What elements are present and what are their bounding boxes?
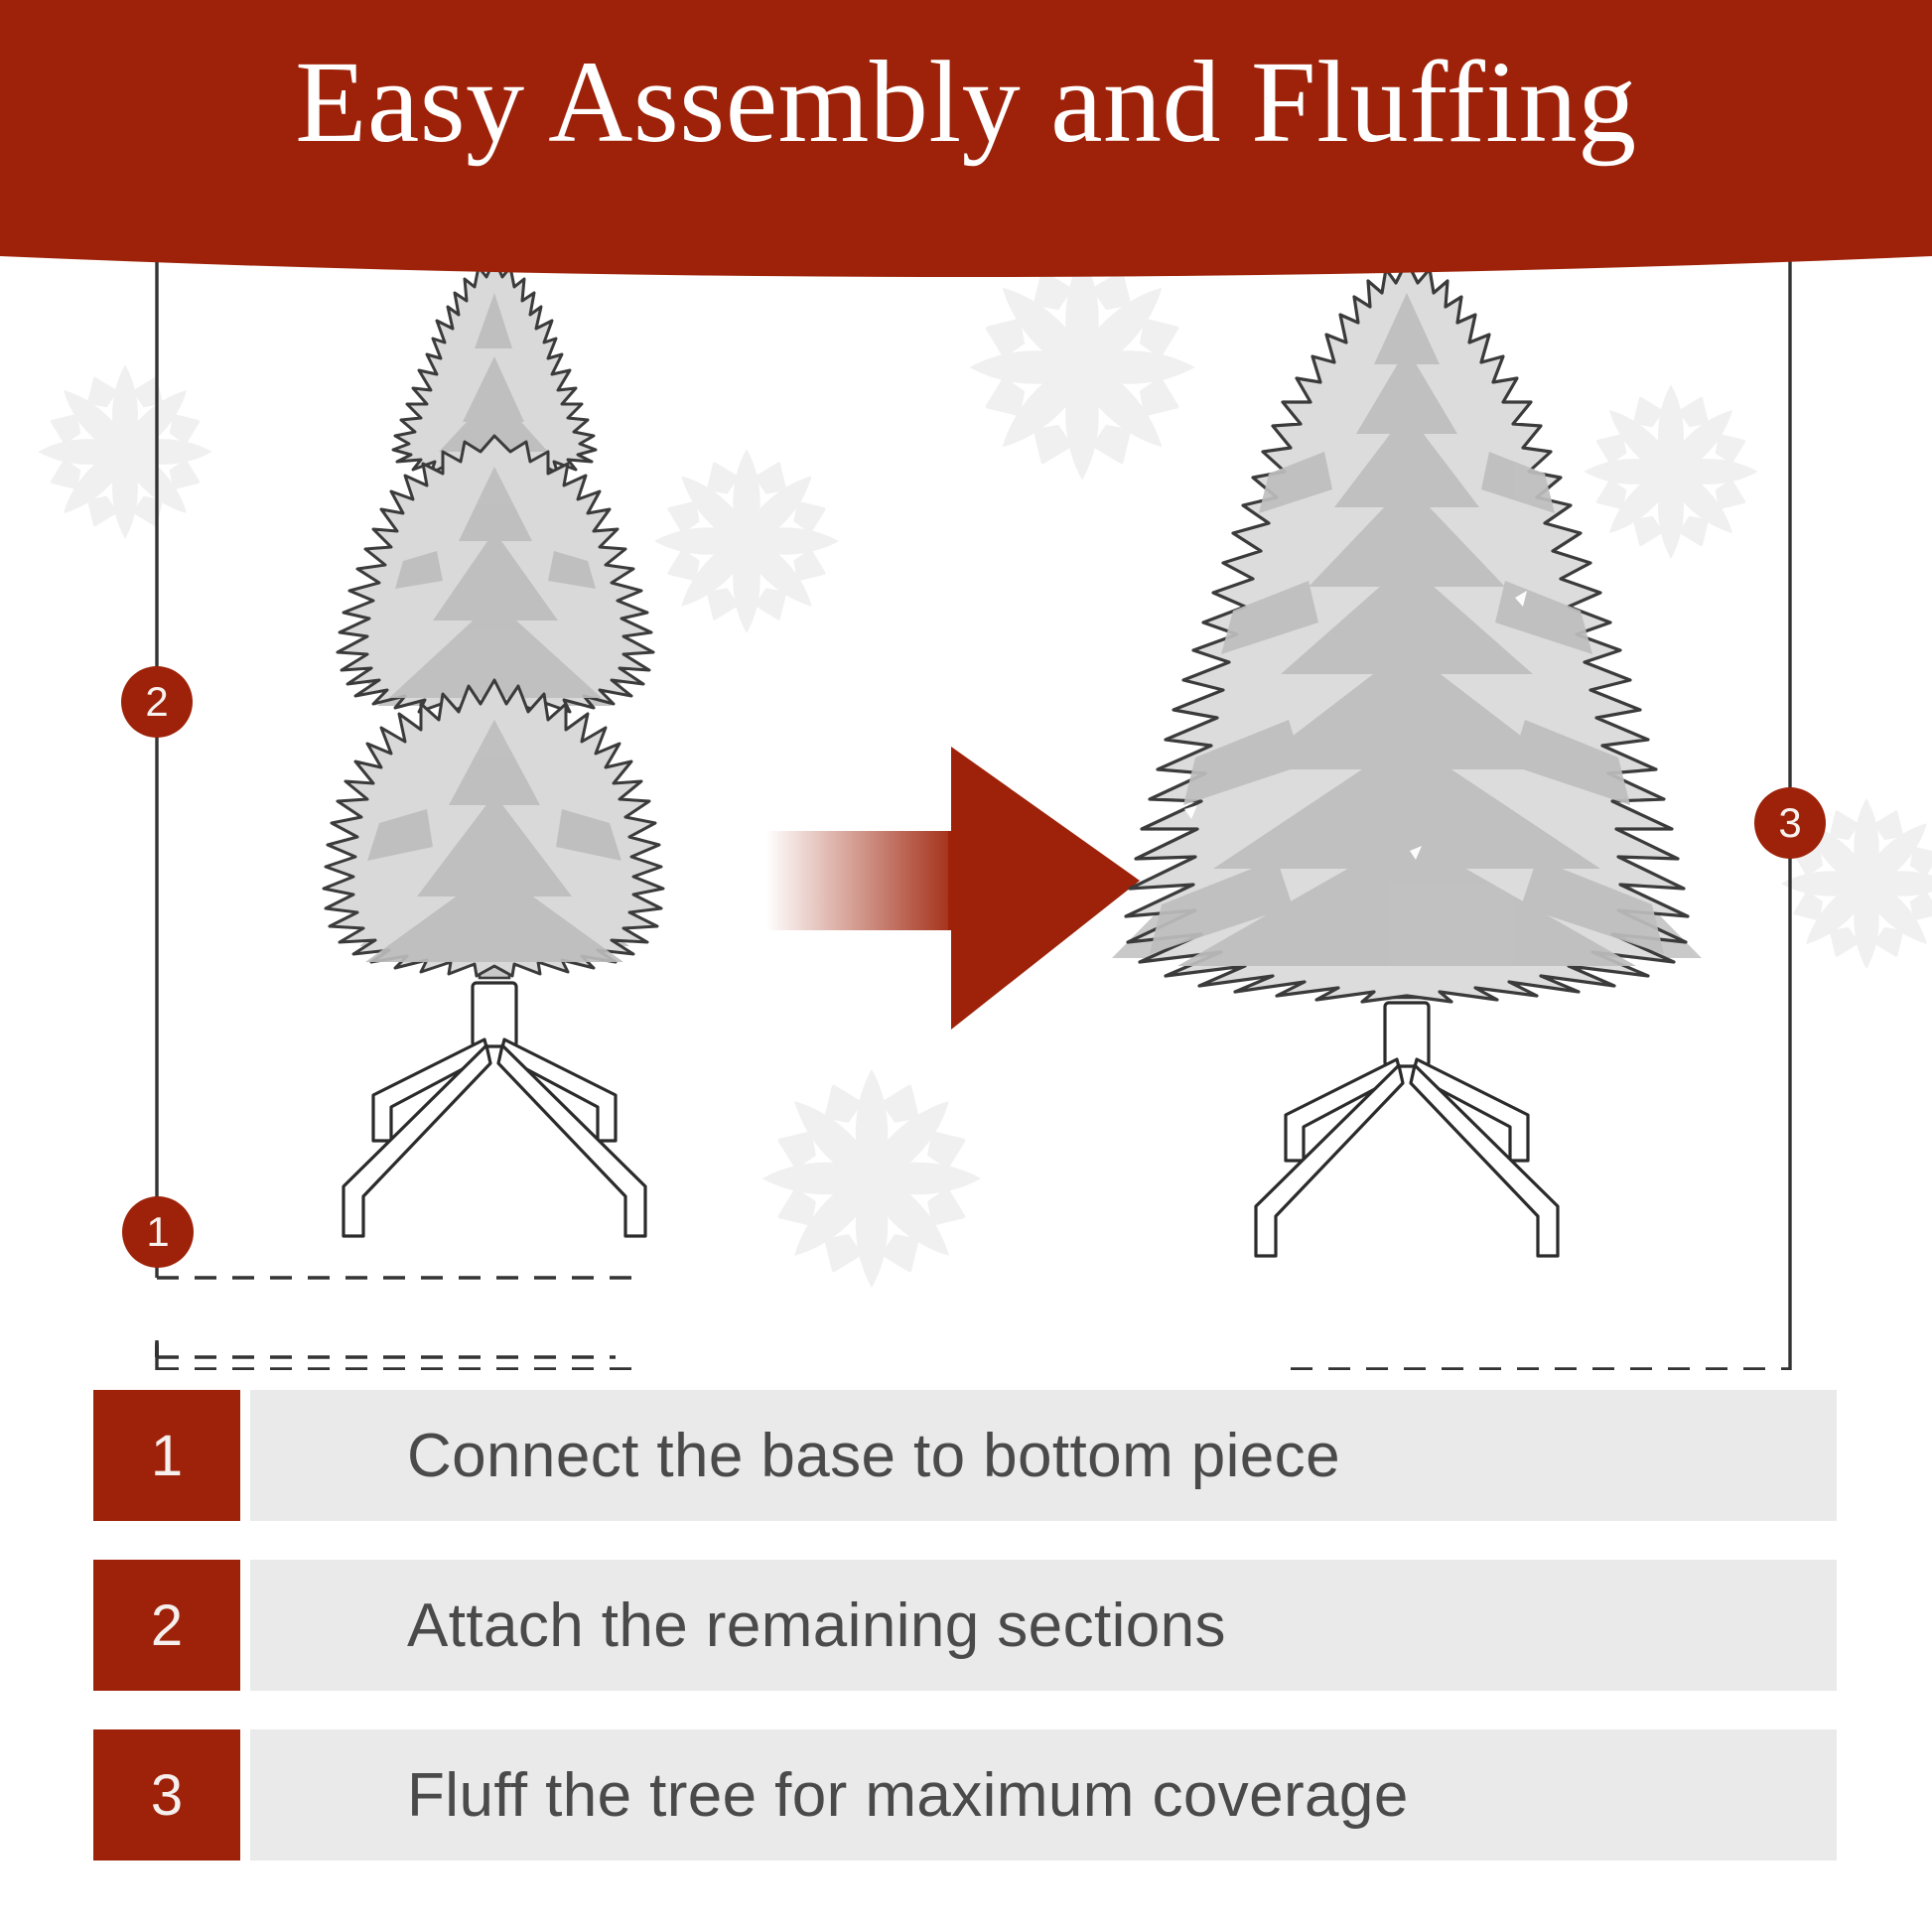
dimension-badge-2: 2 xyxy=(121,666,193,738)
step-row-3: 3 Fluff the tree for maximum coverage xyxy=(0,1729,1932,1861)
assembly-illustration xyxy=(0,253,1932,1370)
snowflake-icon xyxy=(762,1069,982,1289)
step-number-badge-3: 3 xyxy=(93,1729,240,1861)
dimension-badge-1-label: 1 xyxy=(146,1208,169,1256)
right-arrow-icon xyxy=(766,747,1140,1030)
step-text-bar-2: Attach the remaining sections xyxy=(250,1560,1837,1691)
illustration-canvas xyxy=(0,253,1932,1370)
dimension-badge-1: 1 xyxy=(122,1196,194,1268)
step-row-1: 1 Connect the base to bottom piece xyxy=(0,1390,1932,1521)
step-number-badge-1: 1 xyxy=(93,1390,240,1521)
step-description-1: Connect the base to bottom piece xyxy=(407,1421,1340,1491)
step-row-2: 2 Attach the remaining sections xyxy=(0,1560,1932,1691)
snowflake-icon xyxy=(38,364,212,539)
step-number-label: 3 xyxy=(151,1762,183,1829)
tree-stand xyxy=(1256,1003,1558,1256)
step-number-badge-2: 2 xyxy=(93,1560,240,1691)
step-text-bar-3: Fluff the tree for maximum coverage xyxy=(250,1729,1837,1861)
tree-stand xyxy=(344,983,645,1236)
assembly-step-list: 1 Connect the base to bottom piece 2 Att… xyxy=(0,1390,1932,1899)
snowflake-icon xyxy=(654,449,839,633)
step-number-label: 2 xyxy=(151,1592,183,1659)
page-title: Easy Assembly and Fluffing xyxy=(0,0,1932,204)
dimension-badge-3-label: 3 xyxy=(1778,799,1801,847)
tree-section-bottom xyxy=(324,680,663,978)
dimension-badge-3: 3 xyxy=(1754,787,1826,859)
dimension-badge-2-label: 2 xyxy=(145,678,168,726)
step-description-2: Attach the remaining sections xyxy=(407,1590,1226,1661)
step-number-label: 1 xyxy=(151,1423,183,1489)
exploded-tree-sections xyxy=(324,259,663,1236)
assembled-fluffed-tree xyxy=(1112,261,1702,1256)
step-description-3: Fluff the tree for maximum coverage xyxy=(407,1760,1409,1831)
step-text-bar-1: Connect the base to bottom piece xyxy=(250,1390,1837,1521)
snowflake-icon xyxy=(1584,384,1758,559)
